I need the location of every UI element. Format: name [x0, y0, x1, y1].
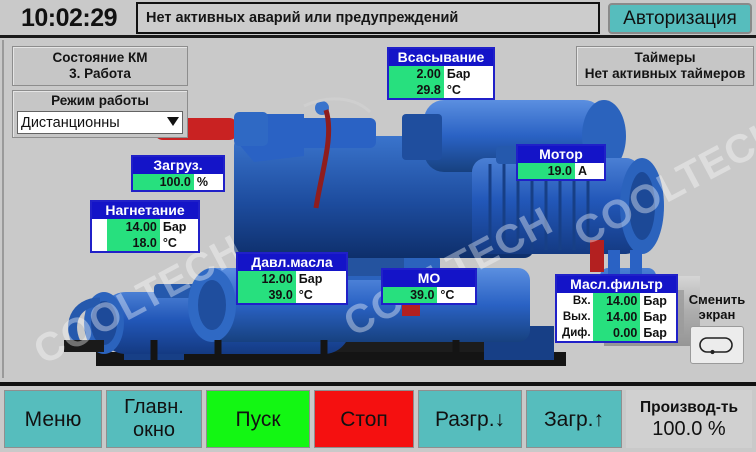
discharge-temperature-spacer — [92, 235, 107, 251]
oil-pressure-row: 12.00 Бар — [238, 271, 346, 287]
operating-mode-panel: Режим работы Дистанционны — [12, 90, 188, 138]
loop-arrow-icon — [699, 334, 735, 356]
oil-pressure-tag: Давл.масла 12.00 Бар 39.0 °C — [236, 252, 348, 305]
operating-mode-title: Режим работы — [13, 93, 187, 109]
change-screen-label-line1: Сменить — [680, 292, 754, 307]
motor-current-value: 19.0 — [518, 163, 575, 179]
load-tag: Загруз. 100.0 % — [131, 155, 225, 192]
oil-filter-row: Вх. 14.00 Бар — [557, 293, 676, 309]
oil-filter-diff-unit: Бар — [640, 325, 676, 341]
discharge-pressure-unit: Бар — [160, 219, 198, 235]
suction-temperature-value: 29.8 — [389, 82, 444, 98]
discharge-pressure-row: 14.00 Бар — [92, 219, 198, 235]
main-window-label-line1: Главн. — [124, 396, 184, 419]
oil-filter-inlet-value: 14.00 — [593, 293, 641, 309]
timers-value: Нет активных таймеров — [577, 66, 753, 82]
capacity-label: Производ-ть — [640, 398, 738, 417]
compressor-state-title: Состояние КМ — [13, 50, 187, 66]
oil-filter-title: Масл.фильтр — [557, 276, 676, 293]
start-button[interactable]: Пуск — [206, 390, 310, 448]
oil-filter-outlet-value: 14.00 — [593, 309, 641, 325]
discharge-temperature-unit: °C — [160, 235, 198, 251]
change-screen-button[interactable] — [690, 326, 744, 364]
oil-pressure-value: 12.00 — [238, 271, 296, 287]
compressor-state-value: 3. Работа — [13, 66, 187, 82]
capacity-value: 100.0 % — [652, 417, 725, 441]
motor-current-row: 19.0 A — [518, 163, 604, 179]
compressor-state-panel: Состояние КМ 3. Работа — [12, 46, 188, 86]
suction-temperature-unit: °C — [444, 82, 493, 98]
compressor-mimic-area: COOLTECH COOLTECH COOLTECH Состояние КМ … — [2, 40, 756, 378]
main-window-button[interactable]: Главн. окно — [106, 390, 202, 448]
suction-pressure-row: 2.00 Бар — [389, 66, 493, 82]
menu-button[interactable]: Меню — [4, 390, 102, 448]
bottom-toolbar: Меню Главн. окно Пуск Стоп Разгр.↓ Загр.… — [0, 382, 756, 452]
suction-title: Всасывание — [389, 49, 493, 66]
top-bar: 10:02:29 Нет активных аварий или предупр… — [0, 0, 756, 38]
load-title: Загруз. — [133, 157, 223, 174]
capacity-readout: Производ-ть 100.0 % — [626, 390, 752, 448]
mo-title: МО — [383, 270, 475, 287]
hmi-screen: 10:02:29 Нет активных аварий или предупр… — [0, 0, 756, 452]
authorization-button[interactable]: Авторизация — [608, 3, 752, 34]
discharge-temperature-row: 18.0 °C — [92, 235, 198, 251]
discharge-temperature-value: 18.0 — [107, 235, 160, 251]
main-window-label-line2: окно — [124, 419, 184, 442]
load-unit: % — [194, 174, 223, 190]
oil-filter-inlet-unit: Бар — [640, 293, 676, 309]
discharge-tag: Нагнетание 14.00 Бар 18.0 °C — [90, 200, 200, 253]
oil-filter-outlet-unit: Бар — [640, 309, 676, 325]
change-screen-label-line2: экран — [680, 307, 754, 322]
change-screen-control[interactable]: Сменить экран — [680, 292, 754, 374]
operating-mode-value: Дистанционны — [21, 113, 120, 133]
motor-current-unit: A — [575, 163, 604, 179]
mo-value-row: 39.0 °C — [383, 287, 475, 303]
timers-panel: Таймеры Нет активных таймеров — [576, 46, 754, 86]
motor-title: Мотор — [518, 146, 604, 163]
oil-temperature-value: 39.0 — [238, 287, 296, 303]
mo-value: 39.0 — [383, 287, 437, 303]
oil-filter-row: Диф. 0.00 Бар — [557, 325, 676, 341]
mo-tag: МО 39.0 °C — [381, 268, 477, 305]
oil-filter-outlet-label: Вых. — [557, 309, 593, 325]
oil-temperature-row: 39.0 °C — [238, 287, 346, 303]
load-value: 100.0 — [133, 174, 194, 190]
oil-pressure-unit: Бар — [296, 271, 346, 287]
oil-filter-row: Вых. 14.00 Бар — [557, 309, 676, 325]
oil-filter-diff-value: 0.00 — [593, 325, 641, 341]
discharge-pressure-spacer — [92, 219, 107, 235]
stop-button[interactable]: Стоп — [314, 390, 414, 448]
motor-tag: Мотор 19.0 A — [516, 144, 606, 181]
suction-pressure-unit: Бар — [444, 66, 493, 82]
clock: 10:02:29 — [6, 2, 132, 34]
load-value-row: 100.0 % — [133, 174, 223, 190]
chevron-down-icon — [167, 117, 179, 126]
oil-temperature-unit: °C — [296, 287, 346, 303]
timers-title: Таймеры — [577, 50, 753, 66]
suction-temperature-row: 29.8 °C — [389, 82, 493, 98]
suction-pressure-value: 2.00 — [389, 66, 444, 82]
suction-tag: Всасывание 2.00 Бар 29.8 °C — [387, 47, 495, 100]
operating-mode-select[interactable]: Дистанционны — [17, 111, 183, 134]
unload-button[interactable]: Разгр.↓ — [418, 390, 522, 448]
mo-unit: °C — [437, 287, 475, 303]
discharge-pressure-value: 14.00 — [107, 219, 160, 235]
oil-filter-inlet-label: Вх. — [557, 293, 593, 309]
discharge-title: Нагнетание — [92, 202, 198, 219]
alarm-message-text: Нет активных аварий или предупреждений — [138, 4, 598, 33]
oil-filter-diff-label: Диф. — [557, 325, 593, 341]
oil-pressure-title: Давл.масла — [238, 254, 346, 271]
oil-filter-tag: Масл.фильтр Вх. 14.00 Бар Вых. 14.00 Бар… — [555, 274, 678, 343]
load-button[interactable]: Загр.↑ — [526, 390, 622, 448]
alarm-message-bar[interactable]: Нет активных аварий или предупреждений — [136, 2, 600, 34]
